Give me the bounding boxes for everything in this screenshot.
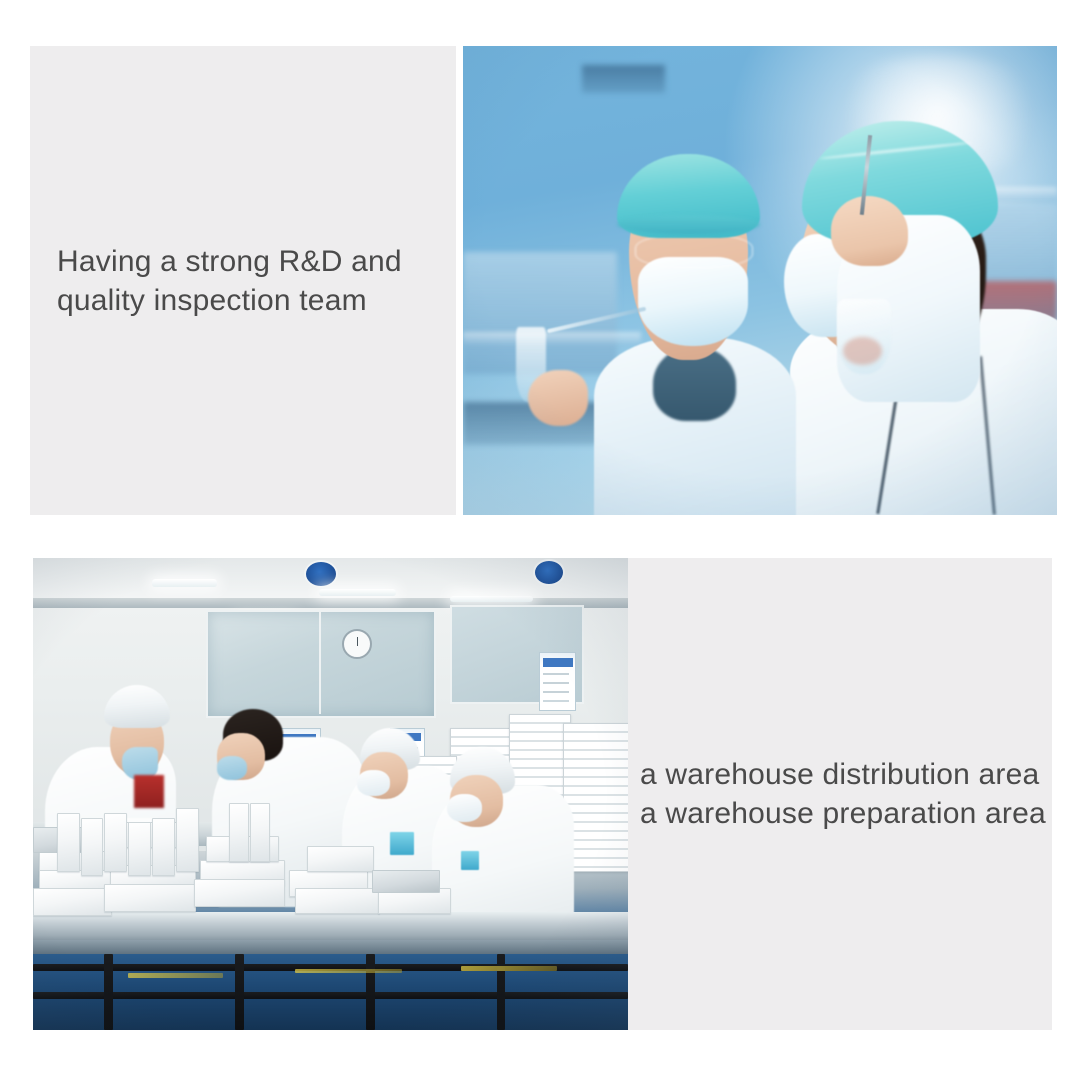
bottom-caption-block: a warehouse distribution area a warehous… — [628, 558, 1052, 1030]
top-caption-line-2: quality inspection team — [57, 281, 456, 320]
lab-vignette — [463, 46, 1057, 515]
packing-vignette — [33, 558, 628, 1030]
bottom-caption-line-1: a warehouse distribution area — [640, 755, 1052, 794]
warehouse-packing-photo — [33, 558, 628, 1030]
top-caption-block: Having a strong R&D and quality inspecti… — [30, 46, 456, 515]
top-caption-line-1: Having a strong R&D and — [57, 242, 456, 281]
bottom-caption-line-2: a warehouse preparation area — [640, 794, 1052, 833]
laboratory-photo — [463, 46, 1057, 515]
